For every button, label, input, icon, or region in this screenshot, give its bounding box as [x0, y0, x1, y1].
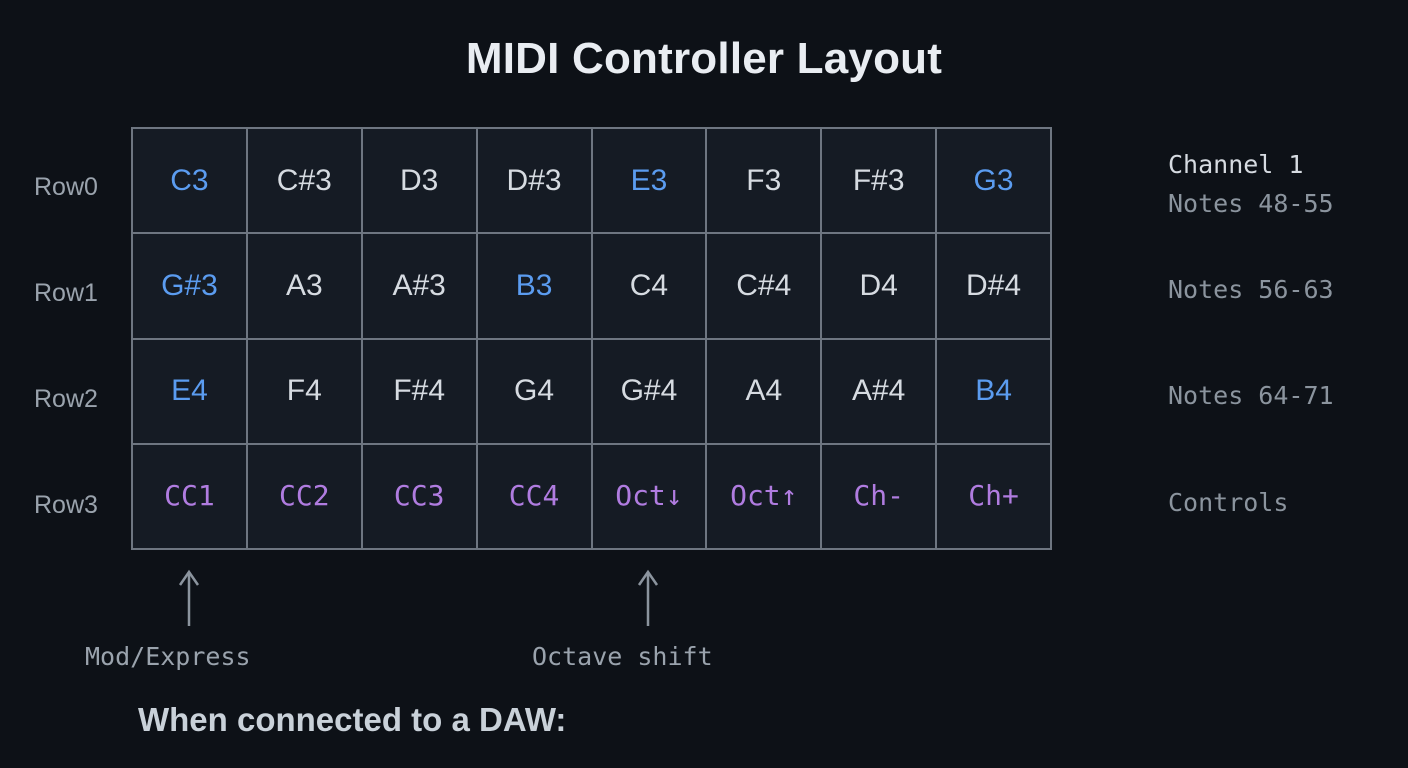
pad-row0-col4[interactable]: E3 — [593, 129, 706, 232]
pad-row3-col0[interactable]: CC1 — [133, 445, 246, 548]
pad-row2-col4[interactable]: G#4 — [593, 340, 706, 443]
pad-row0-col1[interactable]: C#3 — [248, 129, 361, 232]
callout-label-mod-express: Mod/Express — [85, 644, 251, 669]
pad-row2-col6[interactable]: A#4 — [822, 340, 935, 443]
pad-row0-col2[interactable]: D3 — [363, 129, 476, 232]
pad-row1-col1[interactable]: A3 — [248, 234, 361, 337]
side-note-channel: Channel 1 — [1168, 152, 1303, 177]
callout-label-octave-shift: Octave shift — [532, 644, 713, 669]
pad-row3-col1[interactable]: CC2 — [248, 445, 361, 548]
pad-row1-col3[interactable]: B3 — [478, 234, 591, 337]
row-label-3: Row3 — [34, 493, 120, 518]
pad-row3-col3[interactable]: CC4 — [478, 445, 591, 548]
pad-row2-col2[interactable]: F#4 — [363, 340, 476, 443]
row-label-2: Row2 — [34, 387, 120, 412]
pad-row0-col7[interactable]: G3 — [937, 129, 1050, 232]
pad-row1-col5[interactable]: C#4 — [707, 234, 820, 337]
pad-row3-col2[interactable]: CC3 — [363, 445, 476, 548]
pad-row3-col4[interactable]: Oct↓ — [593, 445, 706, 548]
pad-row1-col0[interactable]: G#3 — [133, 234, 246, 337]
row-label-0: Row0 — [34, 175, 120, 200]
pad-grid: C3 C#3 D3 D#3 E3 F3 F#3 G3 G#3 A3 A#3 B3… — [131, 127, 1052, 550]
pad-row1-col7[interactable]: D#4 — [937, 234, 1050, 337]
octave-shift-arrow-icon — [635, 568, 661, 626]
pad-row2-col3[interactable]: G4 — [478, 340, 591, 443]
pad-row0-col5[interactable]: F3 — [707, 129, 820, 232]
pad-row1-col4[interactable]: C4 — [593, 234, 706, 337]
pad-row3-col5[interactable]: Oct↑ — [707, 445, 820, 548]
row-label-1: Row1 — [34, 281, 120, 306]
side-note-row3-controls: Controls — [1168, 490, 1288, 515]
pad-row1-col2[interactable]: A#3 — [363, 234, 476, 337]
pad-row2-col1[interactable]: F4 — [248, 340, 361, 443]
pad-row2-col0[interactable]: E4 — [133, 340, 246, 443]
arrow-up-icon — [635, 568, 661, 626]
pad-row2-col5[interactable]: A4 — [707, 340, 820, 443]
side-note-row0-range: Notes 48-55 — [1168, 191, 1334, 216]
mod-express-arrow-icon — [176, 568, 202, 626]
pad-row0-col6[interactable]: F#3 — [822, 129, 935, 232]
pad-row0-col0[interactable]: C3 — [133, 129, 246, 232]
pad-row1-col6[interactable]: D4 — [822, 234, 935, 337]
side-note-row1-range: Notes 56-63 — [1168, 277, 1334, 302]
page-title: MIDI Controller Layout — [0, 34, 1408, 84]
side-note-row2-range: Notes 64-71 — [1168, 383, 1334, 408]
daw-section-heading: When connected to a DAW: — [138, 703, 566, 736]
arrow-up-icon — [176, 568, 202, 626]
pad-row3-col7[interactable]: Ch+ — [937, 445, 1050, 548]
pad-row3-col6[interactable]: Ch- — [822, 445, 935, 548]
pad-row2-col7[interactable]: B4 — [937, 340, 1050, 443]
pad-row0-col3[interactable]: D#3 — [478, 129, 591, 232]
